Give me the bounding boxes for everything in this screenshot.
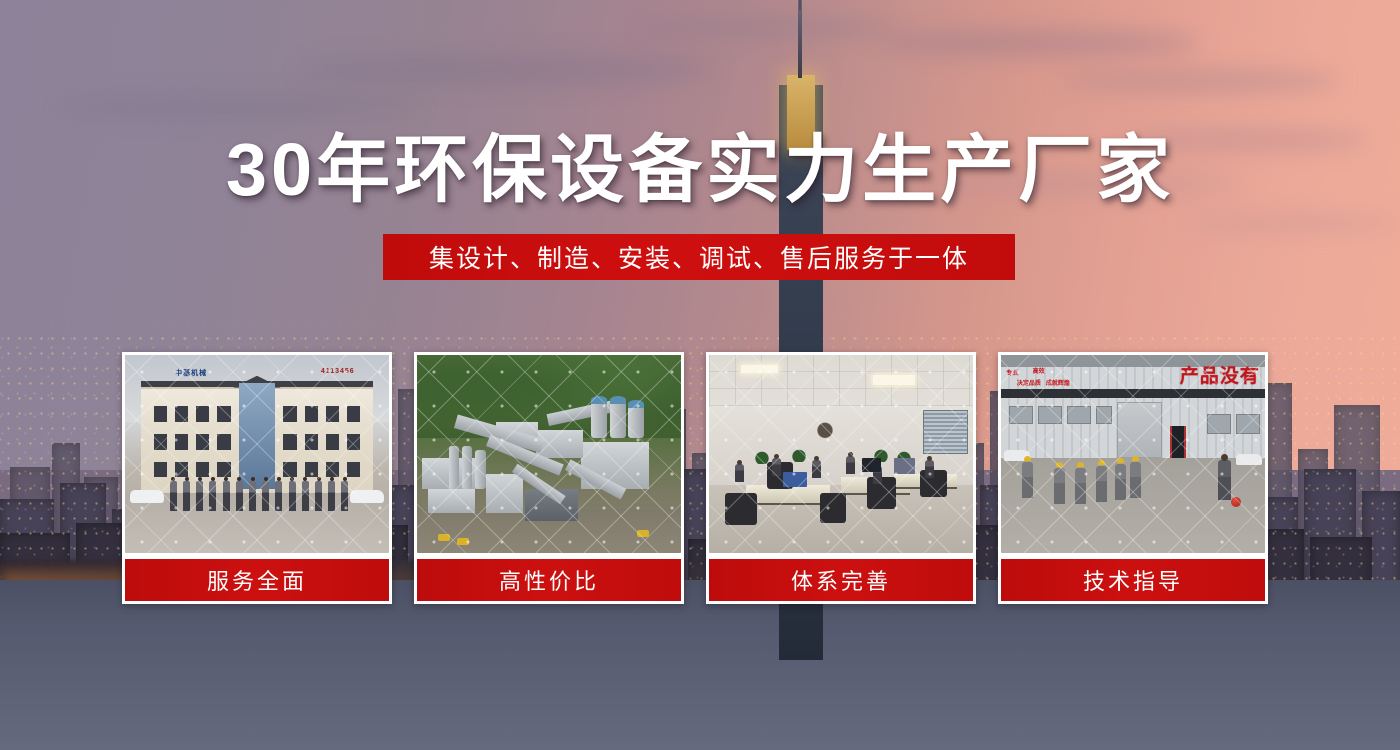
building-phone-text: 4113456 bbox=[321, 368, 355, 375]
factory-banner-text: 产品没有 bbox=[1180, 361, 1260, 388]
feature-card-label: 高性价比 bbox=[417, 559, 681, 601]
page-title: 30年环保设备实力生产厂家 bbox=[0, 128, 1400, 212]
feature-card[interactable]: 产品没有 专业 高效 决定品质 成就辉煌 bbox=[998, 352, 1268, 604]
aerial-industrial-plant-photo bbox=[417, 355, 681, 553]
building-sign-text: 中基机械 bbox=[175, 368, 207, 378]
feature-card-label: 体系完善 bbox=[709, 559, 973, 601]
subtitle-banner: 集设计、制造、安装、调试、售后服务于一体 bbox=[383, 234, 1015, 280]
tower-spire bbox=[798, 0, 802, 78]
office-interior-staff-photo bbox=[709, 355, 973, 553]
river bbox=[0, 580, 1400, 750]
subtitle-text: 集设计、制造、安装、调试、售后服务于一体 bbox=[429, 239, 969, 275]
feature-card[interactable]: 高性价比 bbox=[414, 352, 684, 604]
workers-factory-training-photo: 产品没有 专业 高效 决定品质 成就辉煌 bbox=[1001, 355, 1265, 553]
feature-card-list: 中基机械 4113456 bbox=[122, 352, 1278, 604]
feature-card-label: 技术指导 bbox=[1001, 559, 1265, 601]
factory-slogan-text: 专业 bbox=[1006, 371, 1018, 378]
tower-spire-tip bbox=[799, 0, 801, 10]
hero-banner: 30年环保设备实力生产厂家 集设计、制造、安装、调试、售后服务于一体 中基机械 … bbox=[0, 0, 1400, 750]
factory-slogan-text: 高效 bbox=[1033, 369, 1045, 376]
factory-slogan-text: 决定品质 bbox=[1017, 381, 1041, 388]
company-building-staff-photo: 中基机械 4113456 bbox=[125, 355, 389, 553]
feature-card[interactable]: 体系完善 bbox=[706, 352, 976, 604]
feature-card-label: 服务全面 bbox=[125, 559, 389, 601]
factory-slogan-text: 成就辉煌 bbox=[1046, 381, 1070, 388]
feature-card[interactable]: 中基机械 4113456 bbox=[122, 352, 392, 604]
